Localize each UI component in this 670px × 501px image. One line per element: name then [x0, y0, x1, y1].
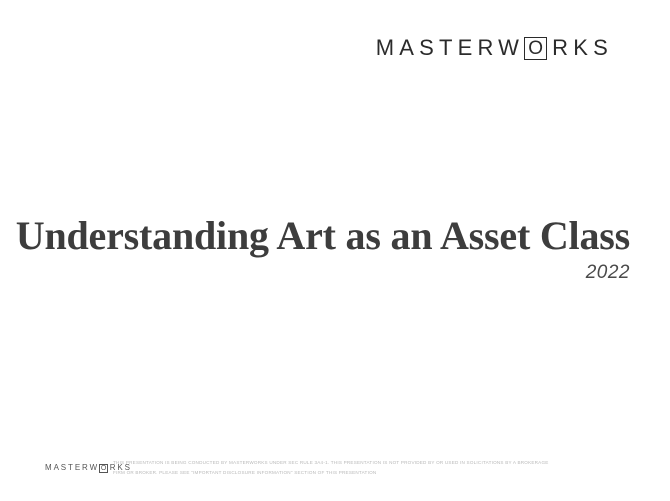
- footer-disclaimer-line-2: FIRM OR BROKER. PLEASE SEE "IMPORTANT DI…: [113, 468, 645, 478]
- slide-header: MASTERW O RKS: [0, 28, 670, 68]
- footer-logo-wrap: MASTERW O RKS: [45, 457, 113, 478]
- title-block: Understanding Art as an Asset Class 2022: [0, 214, 670, 284]
- footer-masterworks-logo-prefix: MASTERW: [45, 464, 99, 472]
- masterworks-logo: MASTERW O RKS: [376, 37, 613, 60]
- page-title: Understanding Art as an Asset Class: [0, 214, 630, 258]
- footer-disclaimer: THIS PRESENTATION IS BEING CONDUCTED BY …: [113, 458, 645, 478]
- masterworks-logo-prefix: MASTERW: [376, 37, 524, 59]
- footer-masterworks-logo-boxed-o-icon: O: [99, 464, 108, 473]
- masterworks-logo-boxed-o-icon: O: [524, 37, 547, 60]
- slide-footer: MASTERW O RKS THIS PRESENTATION IS BEING…: [45, 457, 645, 478]
- footer-disclaimer-line-1: THIS PRESENTATION IS BEING CONDUCTED BY …: [113, 458, 645, 468]
- page-subtitle-year: 2022: [0, 262, 630, 284]
- masterworks-logo-suffix: RKS: [552, 37, 613, 59]
- title-slide: MASTERW O RKS Understanding Art as an As…: [0, 0, 670, 501]
